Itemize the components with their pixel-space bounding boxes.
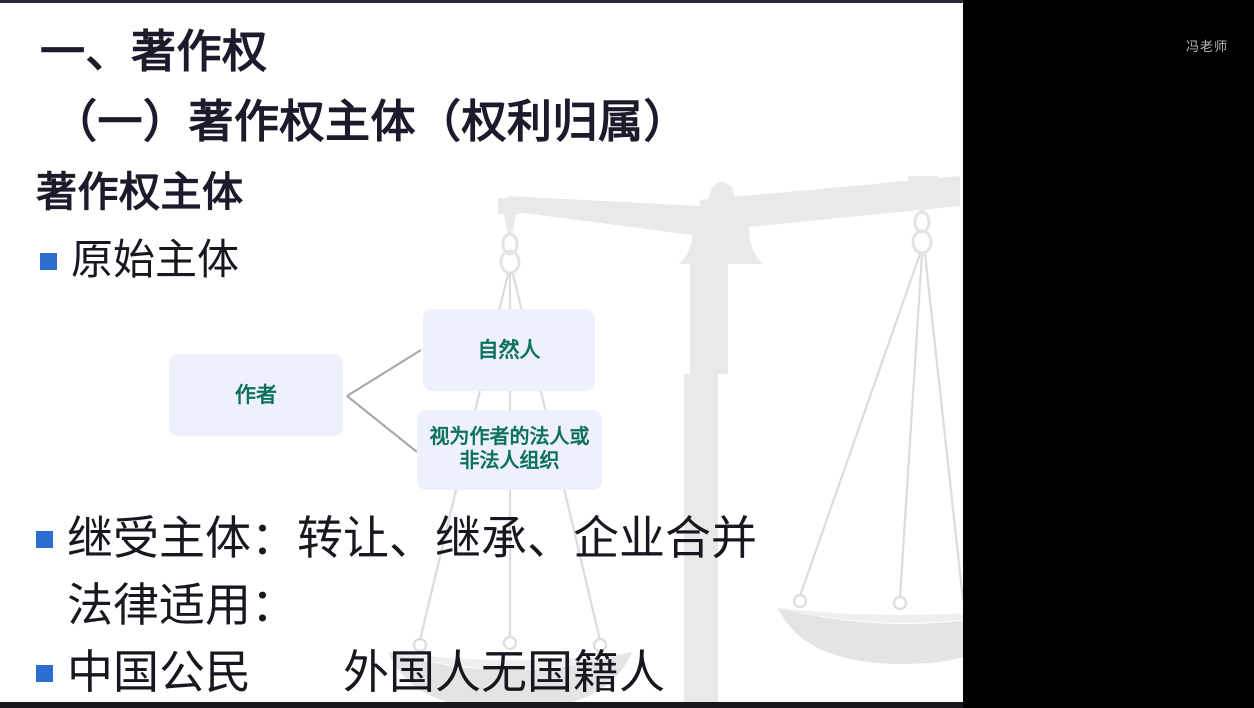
- bullet-citizen-foreigner-label: 中国公民 外国人无国籍人: [67, 650, 665, 696]
- slide-bottom-border: [0, 702, 963, 708]
- author-subject-diagram: 作者 自然人 视为作者的法人或非法人组织: [165, 300, 615, 500]
- slide-content: 一、著作权 （一）著作权主体（权利归属） 著作权主体 原始主体 作者 自然人 视…: [0, 0, 963, 708]
- slide-top-border: [0, 0, 963, 3]
- diagram-node-legal-entity: 视为作者的法人或非法人组织: [417, 410, 602, 490]
- bullet-original-subject: 原始主体: [40, 240, 239, 282]
- bullet-original-subject-label: 原始主体: [71, 240, 239, 282]
- diagram-node-natural-person: 自然人: [423, 309, 595, 391]
- bullet-succession-subject: 继受主体：转让、继承、企业合并: [36, 516, 757, 562]
- bullet-square-icon: [40, 253, 57, 270]
- slide-heading-tertiary: 著作权主体: [36, 172, 244, 213]
- connector-to-natural-person: [347, 350, 421, 396]
- sub-line-law-application: 法律适用：: [67, 583, 297, 629]
- bullet-succession-subject-label: 继受主体：转让、继承、企业合并: [67, 516, 757, 562]
- bullet-square-icon: [36, 531, 53, 548]
- slide-heading-primary: 一、著作权: [40, 30, 268, 75]
- connector-to-legal-entity: [347, 396, 417, 452]
- channel-watermark: 冯老师: [1186, 36, 1228, 55]
- diagram-node-author: 作者: [169, 354, 343, 436]
- presentation-slide: 一、著作权 （一）著作权主体（权利归属） 著作权主体 原始主体 作者 自然人 视…: [0, 0, 963, 708]
- bullet-citizen-foreigner: 中国公民 外国人无国籍人: [36, 650, 665, 696]
- slide-heading-secondary: （一）著作权主体（权利归属）: [52, 100, 689, 145]
- video-player-screen: 一、著作权 （一）著作权主体（权利归属） 著作权主体 原始主体 作者 自然人 视…: [0, 0, 1254, 708]
- bullet-square-icon: [36, 665, 53, 682]
